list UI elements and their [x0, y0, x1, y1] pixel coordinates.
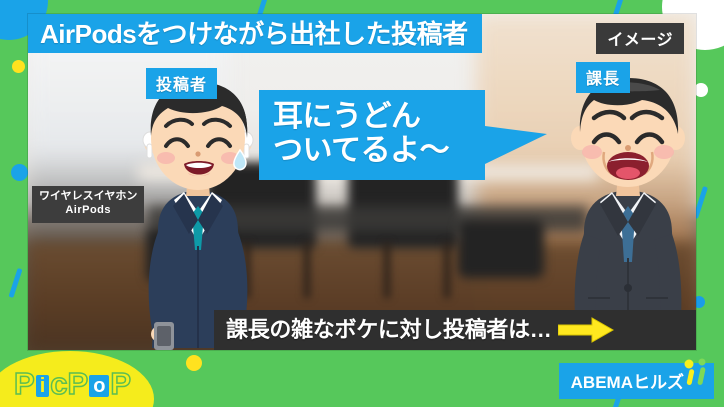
background-chair	[458, 220, 544, 278]
background-chair-leg	[304, 242, 310, 298]
label-chief: 課長	[576, 62, 630, 93]
abema-hills-text: ABEMAヒルズ	[571, 368, 684, 393]
picpop-letter-o: o	[89, 375, 109, 397]
decor-dot-white-right	[694, 83, 708, 97]
picpop-letter-c: c	[50, 368, 67, 399]
caption-text: 課長の雑なボケに対し投稿者は…	[226, 319, 552, 341]
picpop-logo: P i c P o P	[14, 368, 131, 399]
bottom-caption-bar: 課長の雑なボケに対し投稿者は…	[214, 310, 696, 350]
airpods-callout-line1: ワイヤレスイヤホン	[39, 190, 137, 204]
background-chair-leg	[384, 242, 390, 298]
picpop-letter-p1: P	[14, 368, 35, 399]
image-disclaimer-badge: イメージ	[596, 23, 684, 54]
airpods-callout-line2: AirPods	[39, 204, 137, 218]
decor-slash-left	[8, 268, 22, 298]
speech-bubble: 耳にうどん ついてるよ〜	[259, 90, 485, 180]
speech-line-1: 耳にうどん	[273, 100, 471, 134]
label-poster: 投稿者	[146, 68, 217, 99]
picpop-letter-p2: P	[68, 368, 89, 399]
airpods-callout-label: ワイヤレスイヤホン AirPods	[32, 186, 144, 223]
outer-green-frame: AirPodsをつけながら出社した投稿者 イメージ 投稿者 課長 ワイヤレスイヤ…	[0, 0, 724, 407]
background-chair-leg	[444, 242, 450, 298]
decor-dot-yellow-bottom	[186, 355, 202, 371]
speech-bubble-tail	[485, 126, 547, 164]
page-title: AirPodsをつけながら出社した投稿者	[40, 21, 468, 47]
headline-bar: AirPodsをつけながら出社した投稿者	[28, 14, 482, 53]
abema-spark-icon	[680, 357, 710, 387]
decor-dot-blue-left	[11, 164, 28, 181]
decor-dot-yellow-left	[12, 60, 25, 73]
main-image-panel: AirPodsをつけながら出社した投稿者 イメージ 投稿者 課長 ワイヤレスイヤ…	[28, 14, 696, 350]
speech-line-2: ついてるよ〜	[273, 134, 471, 168]
character-chief-illustration	[548, 76, 696, 350]
picpop-letter-i: i	[36, 375, 50, 397]
picpop-letter-p3: P	[110, 368, 131, 399]
abema-hills-logo: ABEMAヒルズ	[559, 363, 714, 399]
right-arrow-icon	[558, 317, 614, 343]
